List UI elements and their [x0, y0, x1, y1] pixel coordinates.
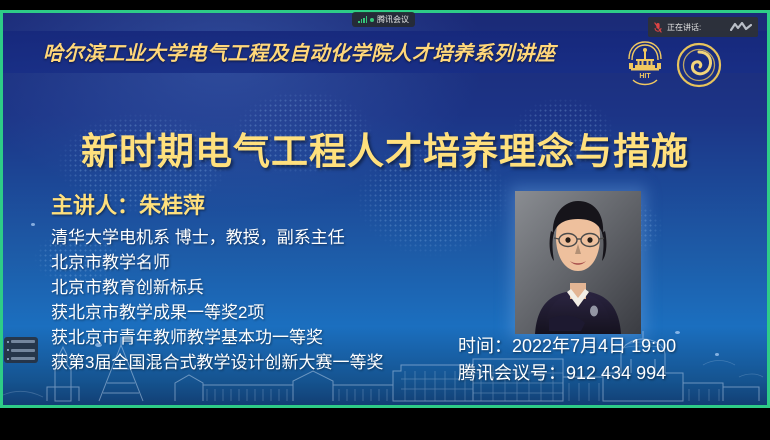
- hit-university-crest-icon: HIT: [623, 39, 667, 89]
- list-item: [7, 340, 35, 343]
- credential-item: 获北京市教学成果一等奖2项: [51, 300, 471, 325]
- speaking-label: 正在讲话:: [667, 22, 701, 33]
- letterbox-bottom: [0, 408, 770, 440]
- credential-item: 清华大学电机系 博士，教授，副系主任: [51, 225, 471, 250]
- credential-item: 北京市教学名师: [51, 250, 471, 275]
- green-status-dot: [370, 18, 374, 22]
- tencent-meeting-status-pill[interactable]: 腾讯会议: [352, 12, 415, 27]
- letterbox-top: [0, 0, 770, 10]
- svg-text:HIT: HIT: [639, 73, 651, 80]
- city-skyline-illustration: [3, 325, 767, 405]
- tencent-meeting-label: 腾讯会议: [377, 14, 409, 25]
- screen-capture: 哈尔滨工业大学电气工程及自动化学院人才培养系列讲座: [0, 0, 770, 440]
- microphone-muted-icon: [654, 22, 662, 33]
- presentation-slide: 哈尔滨工业大学电气工程及自动化学院人才培养系列讲座: [3, 13, 767, 405]
- circular-swirl-logo-icon: [675, 41, 723, 89]
- audio-wave-icon: [730, 18, 752, 36]
- speaking-indicator-bar[interactable]: 正在讲话:: [648, 17, 758, 37]
- signal-bars-icon: [358, 16, 367, 23]
- slide-header-title: 哈尔滨工业大学电气工程及自动化学院人才培养系列讲座: [43, 37, 643, 66]
- decor-speck: [31, 223, 35, 226]
- slide-main-title: 新时期电气工程人才培养理念与措施: [3, 121, 767, 175]
- speaker-name-label: 主讲人：朱桂萍: [51, 188, 205, 220]
- list-item: [7, 357, 35, 360]
- participant-list-panel[interactable]: [4, 337, 38, 363]
- credential-item: 北京市教育创新标兵: [51, 275, 471, 300]
- list-item: [7, 349, 35, 352]
- speaker-portrait: [515, 191, 641, 334]
